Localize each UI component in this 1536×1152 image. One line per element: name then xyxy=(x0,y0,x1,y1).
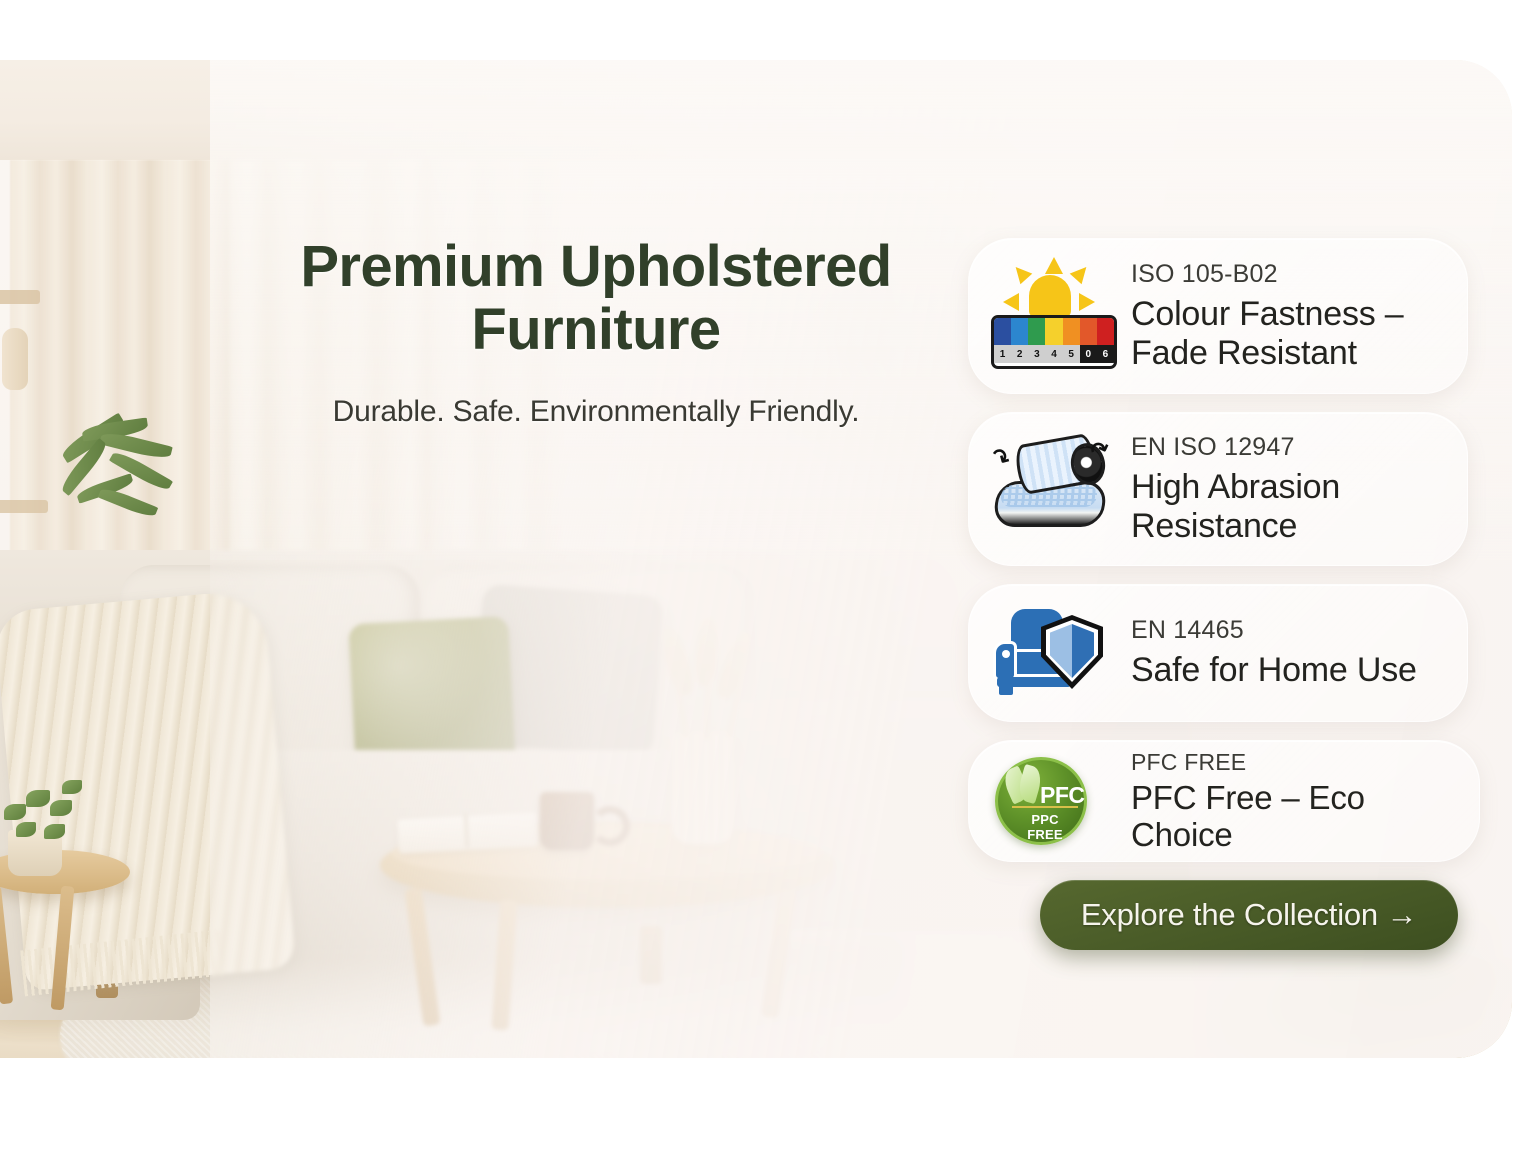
pfc-badge: PFC PPC FREE xyxy=(995,757,1087,845)
armchair-shield-icon xyxy=(989,599,1117,707)
card-standard-label: EN ISO 12947 xyxy=(1131,433,1447,462)
pfc-badge-divider xyxy=(1012,806,1078,808)
certification-card-abrasion[interactable]: ↷ ↷ EN ISO 12947 High Abrasion Resistanc… xyxy=(968,412,1468,566)
wall-shelf-upper xyxy=(0,290,40,304)
pfc-badge-sub: PPC FREE xyxy=(1012,812,1078,842)
certification-card-home-use[interactable]: EN 14465 Safe for Home Use xyxy=(968,584,1468,722)
page-title: Premium Upholstered Furniture xyxy=(246,236,946,361)
explore-collection-button[interactable]: Explore the Collection → xyxy=(1040,880,1458,950)
certification-card-list: 1234506 ISO 105-B02 Colour Fastness – Fa… xyxy=(968,238,1468,880)
shelf-vase xyxy=(2,328,28,390)
headline-block: Premium Upholstered Furniture Durable. S… xyxy=(246,236,946,429)
certification-card-pfc-free[interactable]: PFC PPC FREE PFC FREE PFC Free – Eco Cho… xyxy=(968,740,1480,862)
colour-fastness-scale: 1234506 xyxy=(991,315,1117,369)
wall-shelf-lower xyxy=(0,500,48,513)
headline-line-1: Premium Upholstered xyxy=(246,236,946,299)
subheadline: Durable. Safe. Environmentally Friendly. xyxy=(246,395,946,429)
card-standard-label: PFC FREE xyxy=(1131,749,1459,776)
certification-card-colour-fastness[interactable]: 1234506 ISO 105-B02 Colour Fastness – Fa… xyxy=(968,238,1468,394)
rotation-arrow-left: ↷ xyxy=(986,442,1015,474)
headline-line-2: Furniture xyxy=(246,299,946,362)
sun-colour-scale-icon: 1234506 xyxy=(989,253,1117,379)
scale-numbers: 1234506 xyxy=(994,345,1114,363)
potted-ivy xyxy=(0,760,120,870)
sun-icon xyxy=(1005,257,1089,319)
card-title: High Abrasion Resistance xyxy=(1131,468,1447,544)
card-standard-label: EN 14465 xyxy=(1131,616,1447,645)
hero-banner: Premium Upholstered Furniture Durable. S… xyxy=(0,0,1536,1152)
card-standard-label: ISO 105-B02 xyxy=(1131,260,1447,289)
card-title: PFC Free – Eco Choice xyxy=(1131,780,1459,854)
martindale-abrasion-icon: ↷ ↷ xyxy=(989,427,1117,551)
card-title: Safe for Home Use xyxy=(1131,651,1447,689)
pfc-free-badge-icon: PFC PPC FREE xyxy=(989,755,1117,847)
card-title: Colour Fastness – Fade Resistant xyxy=(1131,295,1447,371)
pfc-badge-main: PFC xyxy=(1040,782,1085,809)
scale-swatches xyxy=(994,318,1114,345)
